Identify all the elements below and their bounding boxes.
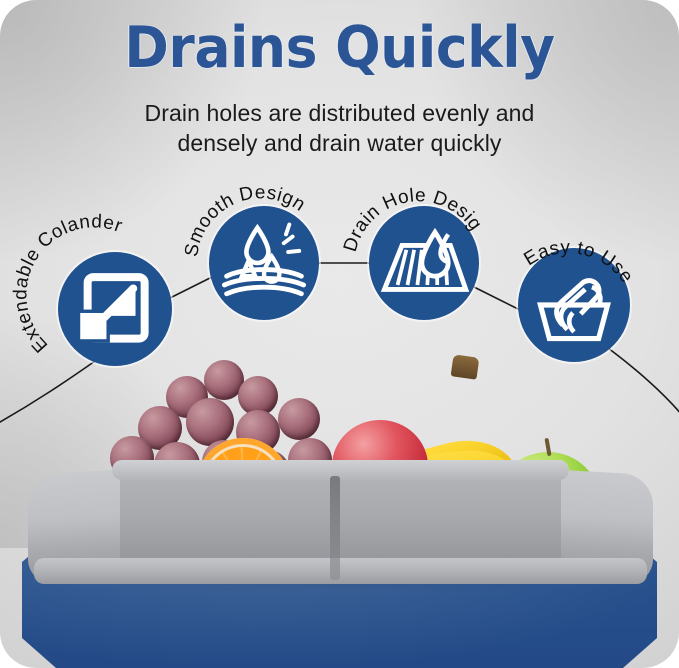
- feature-drain-hole-design[interactable]: Drain Hole Design: [369, 206, 479, 320]
- product-photo: [0, 338, 679, 668]
- banana-stem: [451, 354, 480, 379]
- colander-extension-seam: [330, 476, 340, 580]
- feature-label-arc: Drain Hole Design: [369, 206, 479, 320]
- colander-front-lip: [34, 558, 647, 584]
- feature-label-arc: Smooth Design: [209, 206, 319, 320]
- product-infographic-card: Drains Quickly Drain holes are distribut…: [0, 0, 679, 668]
- feature-smooth-design[interactable]: Smooth Design: [209, 206, 319, 320]
- colander-rim: [112, 460, 569, 480]
